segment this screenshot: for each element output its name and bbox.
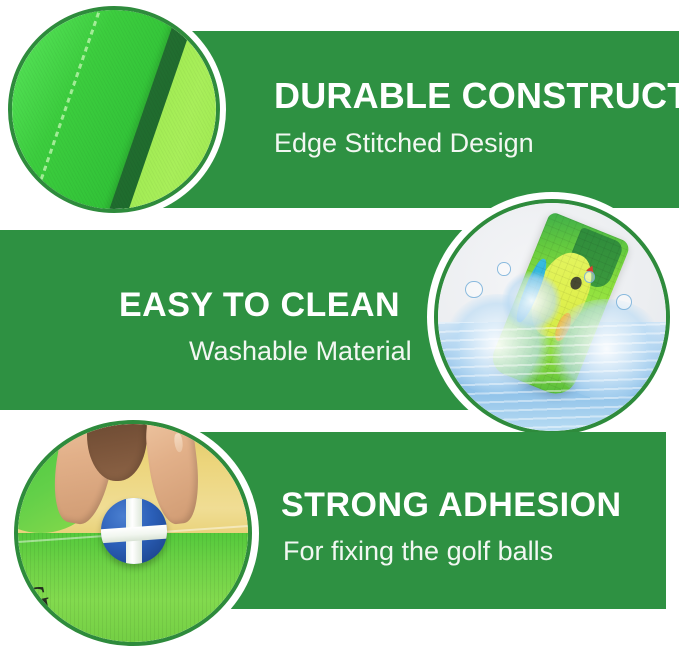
fabric-photo-inner	[12, 10, 216, 209]
product-feature-infographic: DURABLE CONSTRUCTION Edge Stitched Desig…	[0, 0, 679, 653]
golf-ball	[101, 498, 168, 563]
feature-subline-easy-to-clean: Washable Material	[189, 338, 412, 365]
feature-text-durable-construction: DURABLE CONSTRUCTION Edge Stitched Desig…	[274, 78, 679, 157]
water-surface-ripples	[438, 322, 666, 431]
feature-headline-easy-to-clean: EASY TO CLEAN	[119, 288, 412, 322]
feature-text-easy-to-clean: EASY TO CLEAN Washable Material	[119, 288, 412, 365]
feature-text-strong-adhesion: STRONG ADHESION For fixing the golf ball…	[281, 488, 622, 565]
water-droplet-3	[616, 294, 632, 310]
fabric-weave-texture	[12, 10, 216, 209]
feature-headline-durable-construction: DURABLE CONSTRUCTION	[274, 78, 679, 114]
fabric-edge-stitching-photo	[8, 6, 220, 213]
water-photo-inner	[438, 203, 666, 431]
golf-ball-strap-horizontal	[101, 524, 168, 544]
towel-in-water-splash-photo	[434, 199, 670, 435]
feature-headline-strong-adhesion: STRONG ADHESION	[281, 488, 622, 522]
water-droplet-4	[584, 271, 595, 282]
golf-ball-photo-inner: G	[18, 424, 248, 642]
feature-subline-strong-adhesion: For fixing the golf balls	[283, 538, 622, 565]
fingernail	[173, 433, 184, 453]
feature-subline-durable-construction: Edge Stitched Design	[274, 130, 679, 157]
hand-placing-golf-ball-photo: G	[14, 420, 252, 646]
water-droplet-2	[497, 262, 510, 275]
